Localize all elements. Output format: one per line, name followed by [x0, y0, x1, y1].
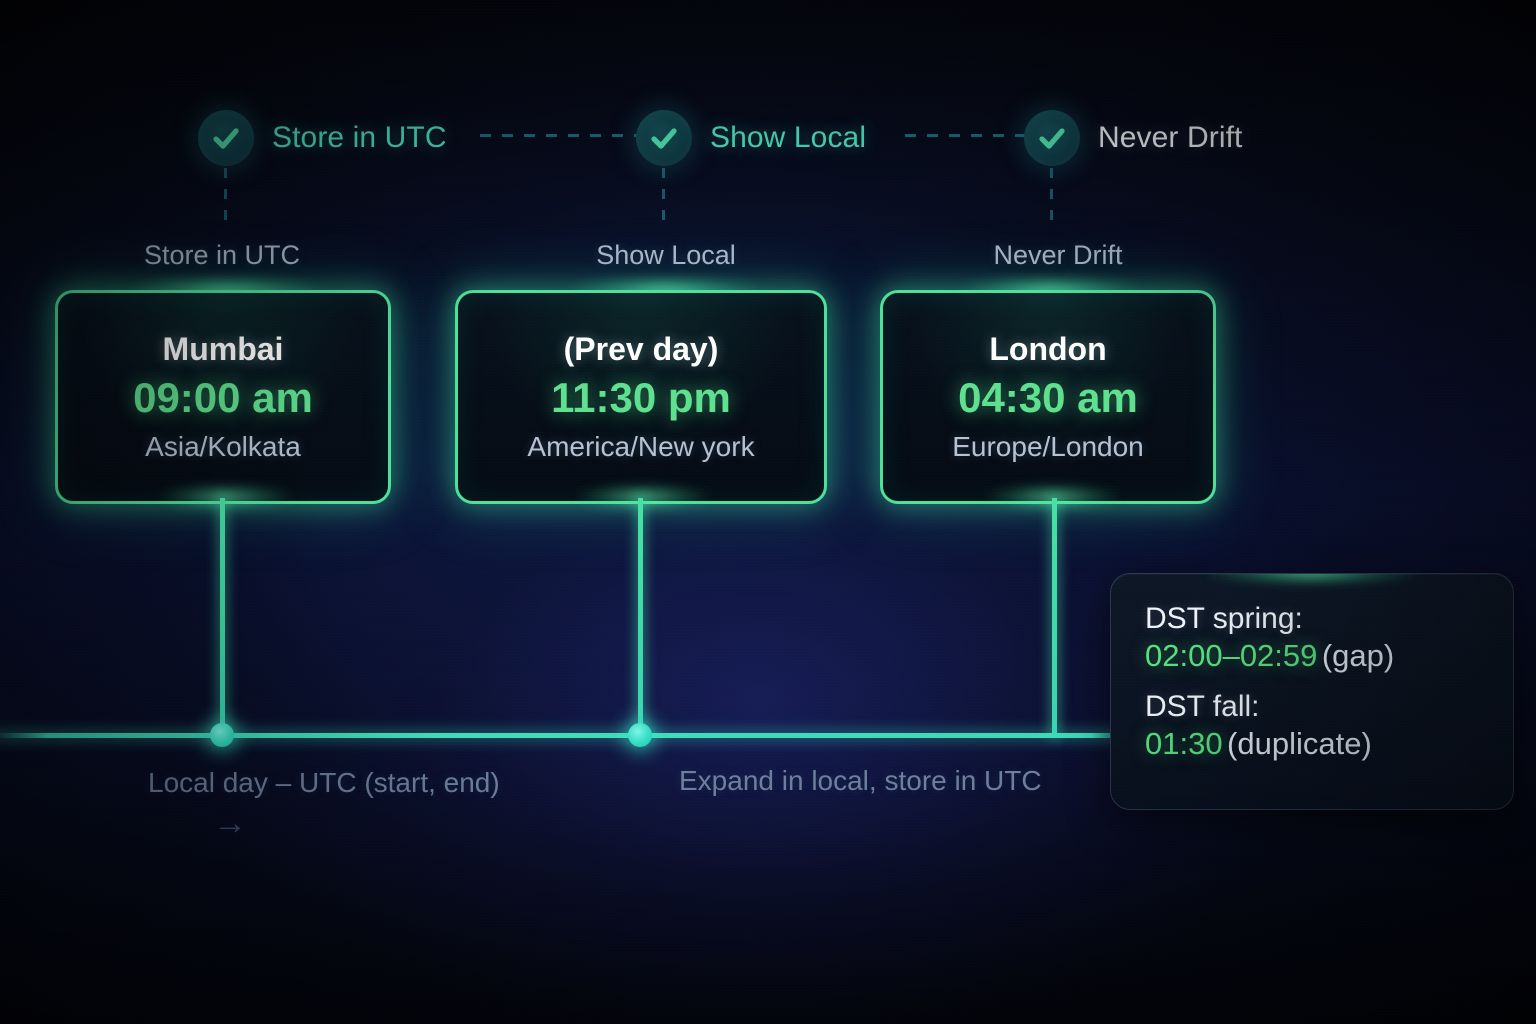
badge-connector-dash-1 [480, 134, 640, 137]
badge-label: Store in UTC [272, 121, 447, 155]
principles-badge-row: Store in UTC Show Local Never Drift [0, 0, 1536, 200]
timezone-diagram-canvas: Store in UTC Show Local Never Drift Stor… [0, 0, 1536, 1024]
timeline-connector-2 [638, 498, 643, 736]
dst-spring-label: DST spring: [1145, 602, 1303, 635]
timezone-card-new-york[interactable]: (Prev day) 11:30 pm America/New york [455, 290, 827, 504]
dst-spring-value-line: 02:00–02:59 (gap) [1145, 637, 1483, 675]
badge-never-drift[interactable]: Never Drift [1024, 108, 1242, 168]
dst-spring-label-line: DST spring: [1145, 600, 1483, 637]
check-icon [636, 110, 692, 166]
card-zone: Asia/Kolkata [145, 430, 301, 464]
dst-fall-label: DST fall: [1145, 690, 1259, 723]
timeline-axis [0, 733, 1150, 738]
card-time: 09:00 am [133, 373, 313, 423]
timezone-card-mumbai[interactable]: Mumbai 09:00 am Asia/Kolkata [55, 290, 391, 504]
card-zone: America/New york [527, 430, 754, 464]
dst-fall-value: 01:30 [1145, 726, 1223, 761]
card-caption-3: Never Drift [993, 240, 1122, 271]
dst-fall-suffix: (duplicate) [1227, 726, 1372, 761]
dst-spring-value: 02:00–02:59 [1145, 638, 1317, 673]
timeline-caption-2: Expand in local, store in UTC [679, 765, 1042, 797]
card-city: Mumbai [163, 331, 284, 368]
badge-drop-dash-3 [1050, 168, 1053, 230]
timeline-node-1[interactable] [210, 723, 234, 747]
card-city: (Prev day) [564, 331, 719, 368]
dst-fall-value-line: 01:30 (duplicate) [1145, 725, 1483, 763]
card-caption-2: Show Local [596, 240, 736, 271]
badge-drop-dash-1 [224, 168, 227, 230]
card-time: 04:30 am [958, 373, 1138, 423]
badge-label: Never Drift [1098, 121, 1242, 155]
badge-connector-dash-2 [905, 134, 1025, 137]
badge-show-local[interactable]: Show Local [636, 108, 866, 168]
card-time: 11:30 pm [551, 373, 731, 423]
timeline-arrow-icon: → [213, 806, 247, 840]
dst-info-panel: DST spring: 02:00–02:59 (gap) DST fall: … [1110, 573, 1514, 810]
dst-spacer [1145, 676, 1483, 688]
timeline-caption-1: Local day – UTC (start, end) [148, 767, 500, 799]
timezone-card-london[interactable]: London 04:30 am Europe/London [880, 290, 1216, 504]
card-caption-1: Store in UTC [144, 240, 300, 271]
badge-store-in-utc[interactable]: Store in UTC [198, 108, 447, 168]
timeline-connector-1 [220, 498, 225, 736]
card-zone: Europe/London [952, 430, 1144, 464]
dst-fall-label-line: DST fall: [1145, 688, 1483, 725]
timeline-node-2[interactable] [628, 723, 652, 747]
badge-label: Show Local [710, 121, 866, 155]
check-icon [1024, 110, 1080, 166]
dst-spring-suffix: (gap) [1322, 638, 1394, 673]
timeline-connector-3 [1052, 498, 1057, 736]
badge-drop-dash-2 [662, 168, 665, 230]
card-city: London [989, 331, 1106, 368]
check-icon [198, 110, 254, 166]
